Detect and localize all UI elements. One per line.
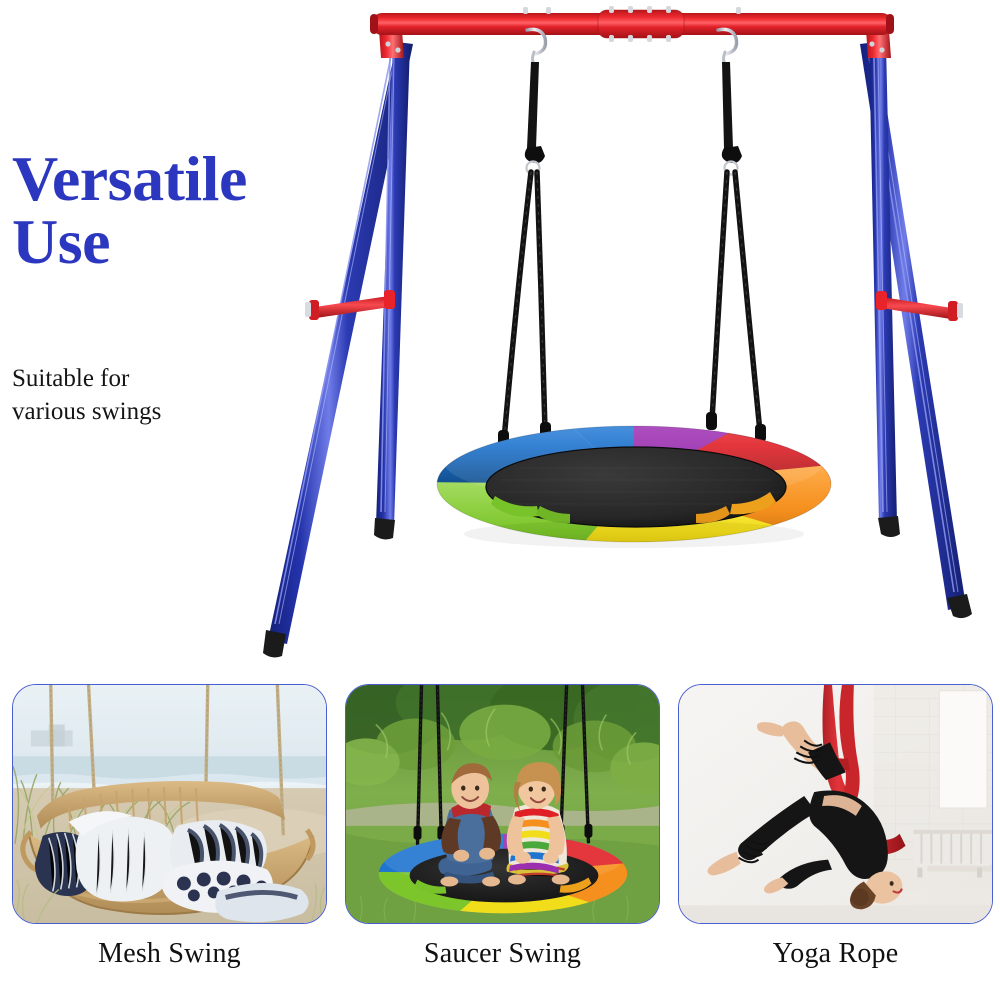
headline-block: Versatile Use	[12, 148, 342, 273]
rainbow-saucer-swing-seat	[410, 392, 860, 570]
subtitle-block: Suitable for various swings	[12, 362, 332, 428]
product-marketing-image: Versatile Use Suitable for various swing…	[0, 0, 1000, 1000]
thumbnail-item-yoga-rope[interactable]: Yoga Rope	[678, 684, 993, 970]
hero-swing-set-image	[0, 0, 1000, 672]
right-vertical-leg	[869, 42, 900, 537]
page-subtitle: Suitable for various swings	[12, 362, 332, 428]
thumbnail-image-yoga-rope	[678, 684, 993, 924]
thumbnail-caption-yoga-rope: Yoga Rope	[678, 938, 993, 970]
thumbnail-item-mesh-swing[interactable]: Mesh Swing	[12, 684, 327, 970]
page-title: Versatile Use	[12, 148, 342, 273]
thumbnail-row: Mesh Swing	[0, 684, 1000, 1000]
thumbnail-image-saucer-swing	[345, 684, 660, 924]
thumbnail-item-saucer-swing[interactable]: Saucer Swing	[345, 684, 660, 970]
thumbnail-caption-saucer-swing: Saucer Swing	[345, 938, 660, 970]
left-hanger-assembly	[498, 29, 551, 448]
top-cross-bar	[370, 6, 894, 58]
right-hanger-assembly	[706, 29, 766, 442]
thumbnail-image-mesh-swing	[12, 684, 327, 924]
thumbnail-caption-mesh-swing: Mesh Swing	[12, 938, 327, 970]
